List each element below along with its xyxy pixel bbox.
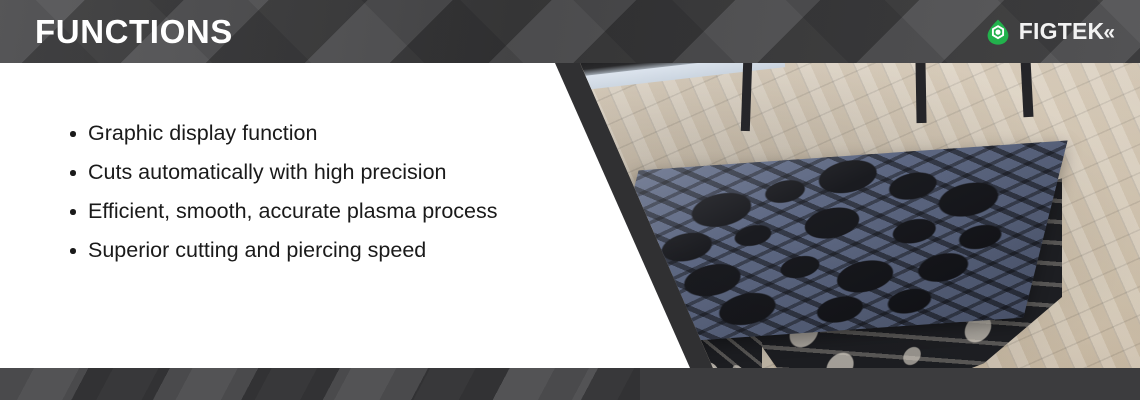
list-item-label: Superior cutting and piercing speed: [88, 238, 426, 262]
list-item-label: Graphic display function: [88, 121, 317, 145]
droplet-hexagon-icon: [984, 18, 1012, 46]
brand-logo[interactable]: FIGTEK«: [984, 16, 1112, 48]
list-item: Superior cutting and piercing speed: [62, 235, 498, 266]
list-item: Cuts automatically with high precision: [62, 157, 498, 188]
footer-solid-block: [640, 368, 1140, 400]
brand-wordmark-text: FIGTEK: [1019, 18, 1105, 44]
page-title: FUNCTIONS: [35, 10, 233, 54]
footer-stripe-pattern: [0, 368, 700, 400]
table-leg: [915, 63, 926, 123]
bullet-dot-icon: [70, 248, 76, 254]
header-band: FUNCTIONS FIGTEK«: [0, 0, 1140, 63]
list-item: Graphic display function: [62, 118, 498, 149]
bullet-dot-icon: [70, 131, 76, 137]
list-item-label: Cuts automatically with high precision: [88, 160, 447, 184]
bullet-dot-icon: [70, 209, 76, 215]
feature-bullet-list: Graphic display function Cuts automatica…: [62, 118, 498, 274]
bullet-dot-icon: [70, 170, 76, 176]
brand-wordmark: FIGTEK«: [1019, 17, 1112, 47]
slide-canvas: FUNCTIONS FIGTEK« Graphic display functi…: [0, 0, 1140, 400]
footer-band: [0, 368, 1140, 400]
list-item: Efficient, smooth, accurate plasma proce…: [62, 196, 498, 227]
brand-chevron-icon: «: [1103, 19, 1112, 47]
list-item-label: Efficient, smooth, accurate plasma proce…: [88, 199, 498, 223]
